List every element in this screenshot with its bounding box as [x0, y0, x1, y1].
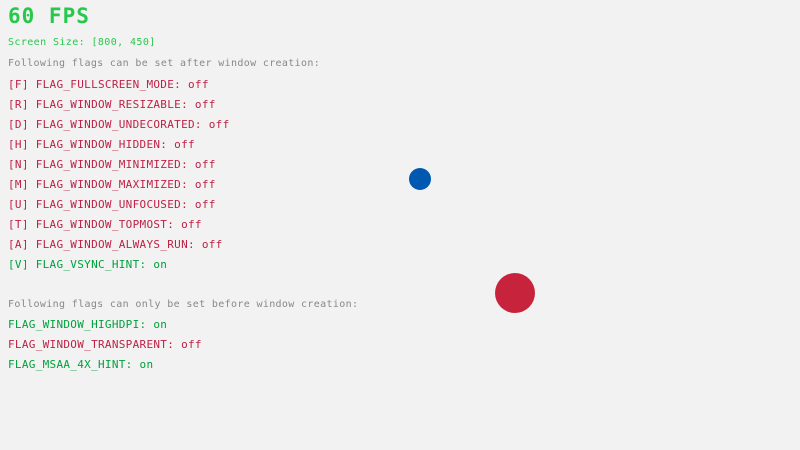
flag-row-window-minimized[interactable]: [N] FLAG_WINDOW_MINIMIZED: off: [8, 158, 216, 171]
flag-row-window-resizable[interactable]: [R] FLAG_WINDOW_RESIZABLE: off: [8, 98, 216, 111]
flag-row-vsync-hint[interactable]: [V] FLAG_VSYNC_HINT: on: [8, 258, 167, 271]
flag-row-msaa-4x-hint: FLAG_MSAA_4X_HINT: on: [8, 358, 153, 371]
section-header-after-creation: Following flags can be set after window …: [8, 58, 320, 70]
app-canvas: 60 FPS Screen Size: [800, 450] Following…: [0, 0, 800, 450]
flag-row-window-always-run[interactable]: [A] FLAG_WINDOW_ALWAYS_RUN: off: [8, 238, 223, 251]
flag-row-fullscreen-mode[interactable]: [F] FLAG_FULLSCREEN_MODE: off: [8, 78, 209, 91]
blue-circle: [409, 168, 431, 190]
flag-row-window-unfocused[interactable]: [U] FLAG_WINDOW_UNFOCUSED: off: [8, 198, 216, 211]
red-circle: [495, 273, 535, 313]
section-header-before-creation: Following flags can only be set before w…: [8, 299, 358, 311]
fps-counter: 60 FPS: [8, 4, 90, 28]
flag-row-window-highdpi: FLAG_WINDOW_HIGHDPI: on: [8, 318, 167, 331]
flag-row-window-transparent: FLAG_WINDOW_TRANSPARENT: off: [8, 338, 202, 351]
flag-row-window-topmost[interactable]: [T] FLAG_WINDOW_TOPMOST: off: [8, 218, 202, 231]
screen-size-label: Screen Size: [800, 450]: [8, 37, 156, 49]
flag-row-window-hidden[interactable]: [H] FLAG_WINDOW_HIDDEN: off: [8, 138, 195, 151]
flag-row-window-undecorated[interactable]: [D] FLAG_WINDOW_UNDECORATED: off: [8, 118, 230, 131]
flag-row-window-maximized[interactable]: [M] FLAG_WINDOW_MAXIMIZED: off: [8, 178, 216, 191]
